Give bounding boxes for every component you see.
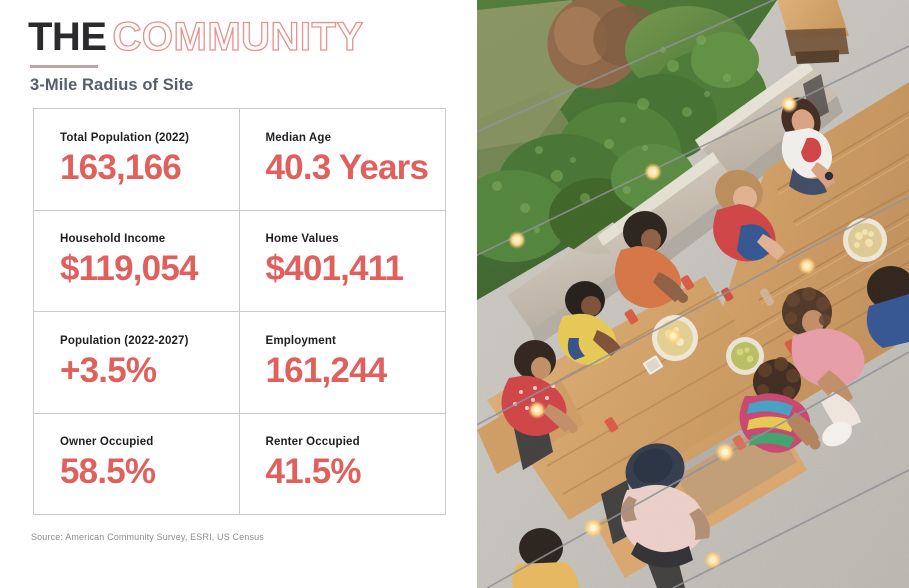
page-subtitle: 3-Mile Radius of Site xyxy=(30,76,193,95)
stat-cell-median-age: Median Age 40.3 Years xyxy=(240,109,446,210)
stat-cell-renter-occupied: Renter Occupied 41.5% xyxy=(240,414,446,515)
heading-divider-rule xyxy=(30,65,98,68)
stat-value: $401,411 xyxy=(266,249,446,288)
stat-cell-owner-occupied: Owner Occupied 58.5% xyxy=(34,414,240,515)
title-word-community: COMMUNITY xyxy=(113,15,364,59)
stat-cell-home-values: Home Values $401,411 xyxy=(240,211,446,312)
stat-cell-total-population: Total Population (2022) 163,166 xyxy=(34,109,240,210)
left-content-panel: THECOMMUNITY 3-Mile Radius of Site Total… xyxy=(0,0,477,588)
stat-value: 40.3 Years xyxy=(266,148,446,187)
stat-label: Population (2022-2027) xyxy=(60,335,239,349)
stat-value: $119,054 xyxy=(60,249,239,288)
slide-canvas: THECOMMUNITY 3-Mile Radius of Site Total… xyxy=(0,0,909,588)
table-row: Population (2022-2027) +3.5% Employment … xyxy=(34,312,445,414)
stat-value: 58.5% xyxy=(60,452,239,491)
demographics-stats-table: Total Population (2022) 163,166 Median A… xyxy=(33,108,446,515)
stat-label: Employment xyxy=(266,335,446,349)
stat-cell-household-income: Household Income $119,054 xyxy=(34,211,240,312)
stat-value: +3.5% xyxy=(60,351,239,390)
stat-cell-population-growth: Population (2022-2027) +3.5% xyxy=(34,312,240,413)
table-row: Owner Occupied 58.5% Renter Occupied 41.… xyxy=(34,414,445,515)
heading-block: THECOMMUNITY xyxy=(28,16,458,58)
community-photo-illustration xyxy=(477,0,909,588)
page-title: THECOMMUNITY xyxy=(28,16,458,58)
stat-value: 163,166 xyxy=(60,148,239,187)
stat-value: 41.5% xyxy=(266,452,446,491)
stat-label: Household Income xyxy=(60,233,239,247)
stat-label: Renter Occupied xyxy=(266,436,446,450)
title-word-the: THE xyxy=(28,15,107,59)
stat-label: Total Population (2022) xyxy=(60,132,239,146)
community-photo xyxy=(477,0,909,588)
table-row: Total Population (2022) 163,166 Median A… xyxy=(34,109,445,211)
stat-cell-employment: Employment 161,244 xyxy=(240,312,446,413)
stat-label: Median Age xyxy=(266,132,446,146)
stat-label: Owner Occupied xyxy=(60,436,239,450)
stat-label: Home Values xyxy=(266,233,446,247)
table-row: Household Income $119,054 Home Values $4… xyxy=(34,211,445,313)
source-citation: Source: American Community Survey, ESRI,… xyxy=(31,532,264,542)
stat-value: 161,244 xyxy=(266,351,446,390)
